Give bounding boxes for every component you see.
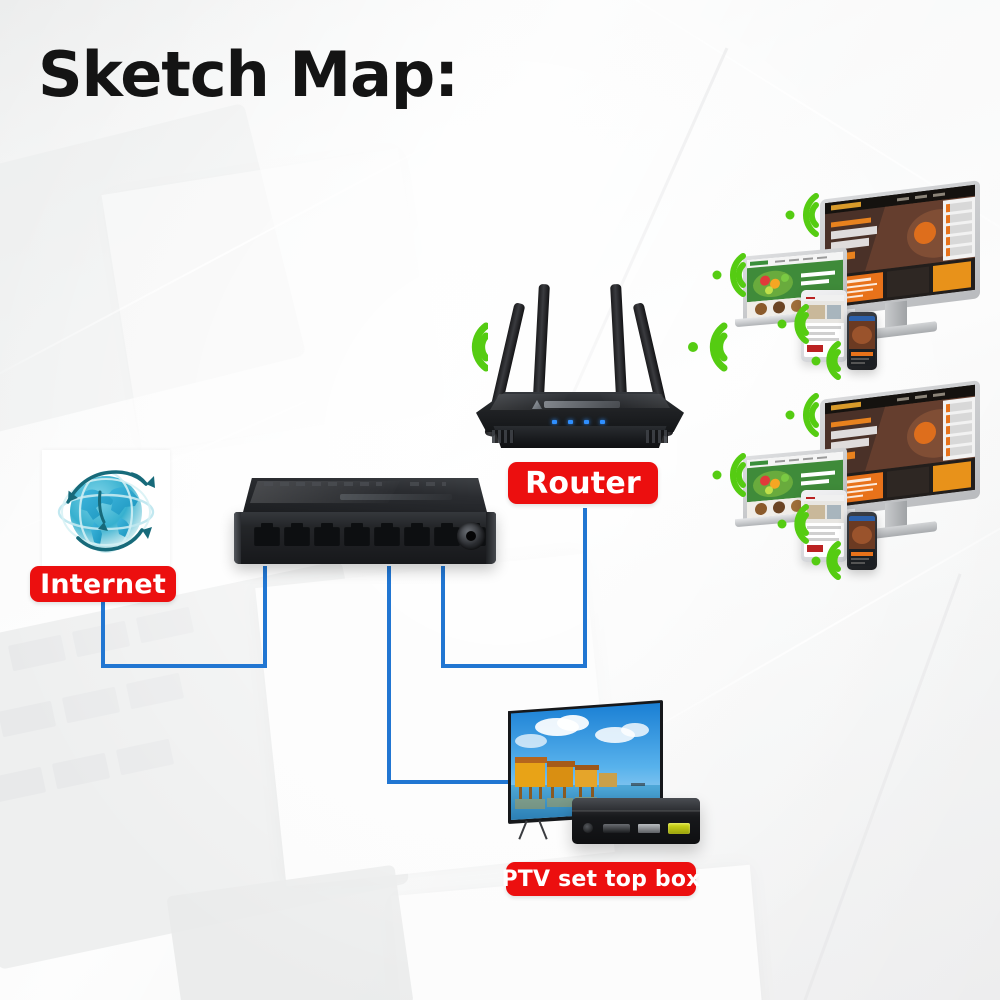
switch-port-3: [314, 526, 340, 546]
router-led-1: [552, 420, 557, 424]
wireless-devices-icon-top: [725, 190, 985, 375]
set-top-box-label: PTV set top box: [506, 862, 696, 896]
router-brand-text: [544, 401, 620, 408]
monitor-screen: [825, 185, 975, 308]
switch-port-4: [344, 526, 370, 546]
wifi-signal-icon-router-left: [436, 316, 488, 382]
line-router-up: [583, 508, 587, 668]
router-led-4: [600, 420, 605, 424]
router-led-3: [584, 420, 589, 424]
wifi-signal-icon-phone: [807, 538, 847, 588]
page-title: Sketch Map:: [38, 44, 458, 106]
wifi-signal-icon-laptop: [707, 248, 753, 306]
line-switch-port2-down: [387, 566, 391, 784]
stb-hdmi-port: [603, 824, 630, 833]
wifi-signal-icon-monitor: [780, 188, 826, 246]
wifi-signal-icon-monitor: [780, 388, 826, 446]
wifi-signal-icon-phone: [807, 338, 847, 388]
line-router-across: [441, 664, 587, 668]
router-led-2: [568, 420, 573, 424]
internet-label: Internet: [30, 566, 176, 602]
line-internet-across: [101, 664, 267, 668]
network-switch-icon: [228, 478, 496, 566]
line-settopbox-across: [387, 780, 515, 784]
line-internet-down: [101, 600, 105, 668]
tv-stand-2: [538, 820, 547, 839]
wifi-signal-icon-laptop: [707, 448, 753, 506]
phone-screen: [849, 516, 875, 566]
line-switch-port1-down: [263, 566, 267, 666]
line-switch-port3-down: [441, 566, 445, 668]
globe-internet-icon: [42, 450, 170, 566]
wireless-devices-icon-bottom: [725, 390, 985, 575]
switch-port-2: [284, 526, 310, 546]
switch-port-1: [254, 526, 280, 546]
monitor-screen: [825, 385, 975, 508]
wireless-router-icon: [460, 280, 700, 460]
phone-screen: [849, 316, 875, 366]
stb-usb-port-yellow: [668, 823, 690, 834]
router-label: Router: [508, 462, 658, 504]
stb-power-port: [583, 823, 593, 833]
stb-usb-port: [638, 824, 660, 833]
switch-port-5: [374, 526, 400, 546]
tv-set-top-box-icon: [500, 700, 710, 850]
switch-port-6: [404, 526, 430, 546]
